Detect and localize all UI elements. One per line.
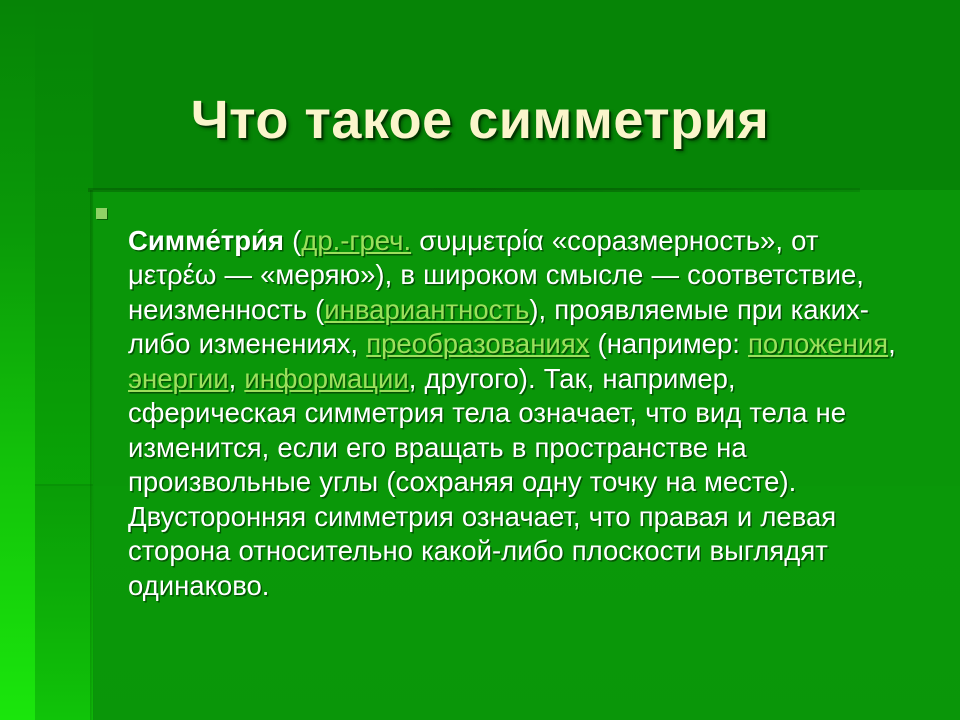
background-accent-strip-left [0, 0, 35, 720]
body-term: Симме́три́я [128, 225, 284, 256]
square-bullet-icon [96, 208, 107, 219]
body-link[interactable]: энергии [128, 363, 229, 394]
body-link[interactable]: положения [748, 328, 888, 359]
bullet-list-item: Симме́три́я (др.-греч. συμμετρία «соразм… [96, 196, 904, 631]
bullet-item-text: Симме́три́я (др.-греч. συμμετρία «соразм… [128, 224, 904, 604]
slide-body: Симме́три́я (др.-греч. συμμετρία «соразм… [96, 196, 904, 631]
content-panel-top-edge [88, 188, 860, 192]
body-text-run: , другого). Так, например, сферическая с… [128, 363, 846, 601]
body-link[interactable]: преобразованиях [366, 328, 589, 359]
body-link[interactable]: информации [244, 363, 408, 394]
body-text-run: , [229, 363, 245, 394]
body-text-run: ( [284, 225, 301, 256]
body-link[interactable]: инвариантность [324, 294, 529, 325]
presentation-slide: Что такое симметрия Симме́три́я (др.-гре… [0, 0, 960, 720]
content-panel-left-shadow [90, 190, 94, 720]
body-link[interactable]: др.-греч. [301, 225, 411, 256]
slide-title: Что такое симметрия [48, 92, 912, 149]
background-accent-block-lower [35, 486, 93, 720]
body-text-run: , [888, 328, 896, 359]
body-text-run: (например: [589, 328, 748, 359]
